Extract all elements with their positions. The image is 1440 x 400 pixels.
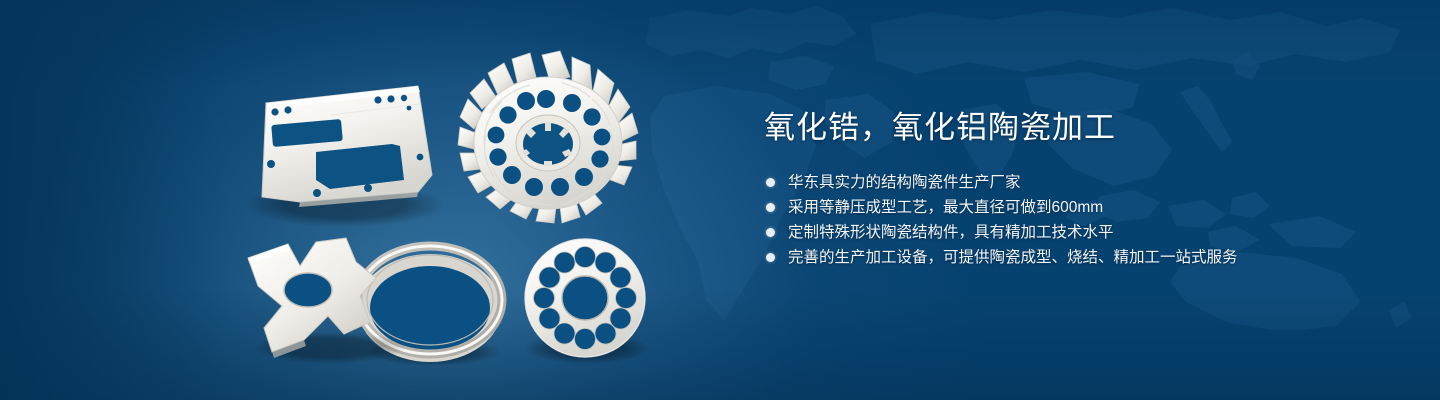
list-item: 华东具实力的结构陶瓷件生产厂家: [764, 170, 1384, 195]
ceramic-impeller-disc: [458, 51, 638, 223]
list-item: 采用等静压成型工艺，最大直径可做到600mm: [764, 195, 1384, 220]
rectangular-ceramic-plate: [245, 86, 445, 227]
promo-banner: 氧化锆，氧化铝陶瓷加工 华东具实力的结构陶瓷件生产厂家 采用等静压成型工艺，最大…: [0, 0, 1440, 400]
banner-copy: 氧化锆，氧化铝陶瓷加工 华东具实力的结构陶瓷件生产厂家 采用等静压成型工艺，最大…: [764, 108, 1384, 270]
bullet-dot-icon: [766, 228, 775, 237]
page-title: 氧化锆，氧化铝陶瓷加工: [764, 108, 1384, 148]
list-item-label: 定制特殊形状陶瓷结构件，具有精加工技术水平: [788, 224, 1114, 241]
feature-list: 华东具实力的结构陶瓷件生产厂家 采用等静压成型工艺，最大直径可做到600mm 定…: [764, 170, 1384, 270]
product-photo-cluster: [0, 0, 760, 400]
bullet-dot-icon: [766, 203, 775, 212]
list-item-label: 完善的生产加工设备，可提供陶瓷成型、烧结、精加工一站式服务: [788, 249, 1238, 266]
list-item-label: 采用等静压成型工艺，最大直径可做到600mm: [788, 199, 1103, 216]
list-item: 定制特殊形状陶瓷结构件，具有精加工技术水平: [764, 220, 1384, 245]
perforated-ceramic-ring-disc: [525, 239, 649, 364]
bullet-dot-icon: [766, 253, 775, 262]
list-item-label: 华东具实力的结构陶瓷件生产厂家: [788, 174, 1021, 191]
bullet-dot-icon: [766, 178, 775, 187]
list-item: 完善的生产加工设备，可提供陶瓷成型、烧结、精加工一站式服务: [764, 245, 1384, 270]
